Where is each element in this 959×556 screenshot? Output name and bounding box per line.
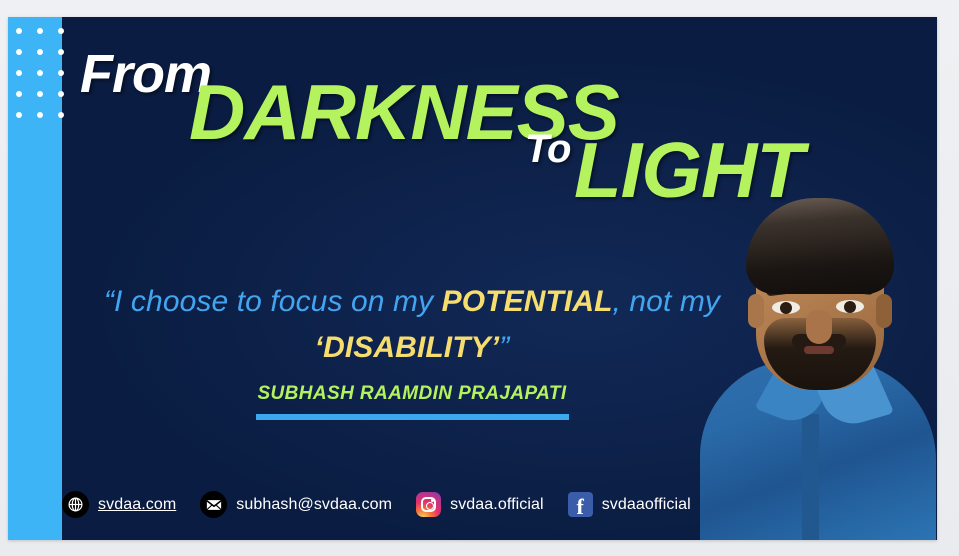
headline-word-to: To	[525, 127, 570, 172]
dot-decoration	[37, 91, 43, 97]
dot-decoration	[37, 70, 43, 76]
facebook-icon: f	[568, 492, 593, 517]
instagram-icon-glyph	[421, 497, 436, 512]
dot-decoration	[16, 112, 22, 118]
globe-icon	[62, 491, 89, 518]
dot-decoration	[37, 49, 43, 55]
dot-decoration	[37, 112, 43, 118]
contact-email[interactable]: subhash@svdaa.com	[200, 491, 392, 518]
portrait-hair	[746, 198, 894, 294]
dot-decoration	[37, 28, 43, 34]
quote-text: “I choose to focus on my POTENTIAL, not …	[62, 279, 762, 371]
portrait-photo	[694, 180, 937, 540]
quote-highlight-disability: ‘DISABILITY’	[315, 331, 500, 364]
contact-instagram[interactable]: svdaa.official	[416, 492, 544, 517]
banner-card: From DARKNESS To LIGHT “I choose to focu…	[8, 17, 937, 540]
contact-email-label: subhash@svdaa.com	[236, 496, 392, 514]
quote-attribution: SUBHASH RAAMDIN PRAJAPATI	[62, 383, 762, 405]
portrait-pupil-left	[780, 302, 792, 314]
dot-decoration	[16, 70, 22, 76]
contact-website-label: svdaa.com	[98, 496, 176, 514]
portrait-mouth	[804, 346, 834, 354]
instagram-icon	[416, 492, 441, 517]
quote-part-close: ”	[499, 331, 509, 364]
contact-facebook[interactable]: f svdaaofficial	[568, 492, 691, 517]
contact-instagram-label: svdaa.official	[450, 496, 544, 514]
quote-part-open: “I choose to focus on my	[104, 285, 442, 318]
quote-block: “I choose to focus on my POTENTIAL, not …	[62, 279, 762, 420]
facebook-icon-glyph: f	[577, 496, 584, 517]
attribution-underline-rule	[256, 414, 569, 420]
portrait-pupil-right	[844, 301, 856, 313]
quote-highlight-potential: POTENTIAL	[442, 285, 613, 318]
contact-website[interactable]: svdaa.com	[62, 491, 176, 518]
contact-footer: svdaa.com subhash@svdaa.com svdaa.offici…	[62, 491, 715, 518]
left-accent-strip	[8, 17, 62, 540]
dot-decoration	[16, 49, 22, 55]
contact-facebook-label: svdaaofficial	[602, 496, 691, 514]
portrait-nose	[806, 310, 832, 344]
dot-decoration	[16, 28, 22, 34]
slide-canvas: From DARKNESS To LIGHT “I choose to focu…	[0, 0, 959, 556]
portrait-placket	[802, 414, 819, 540]
portrait-ear-left	[748, 294, 764, 328]
envelope-icon	[200, 491, 227, 518]
dot-decoration	[16, 91, 22, 97]
portrait-ear-right	[876, 294, 892, 328]
